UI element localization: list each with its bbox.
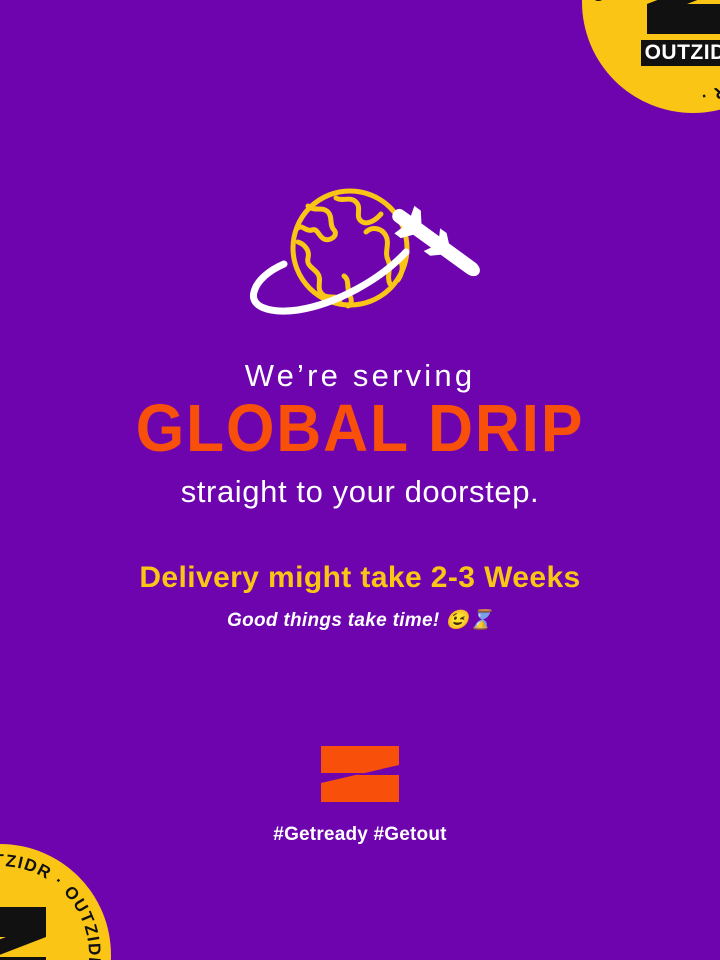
subline-text: straight to your doorstep. (0, 476, 720, 507)
outzidr-z-logomark-icon (320, 745, 400, 803)
footer-brand: #Getready #Getout (0, 745, 720, 844)
copy-block: We’re serving GLOBAL DRIP straight to yo… (0, 360, 720, 630)
hashtags-text: #Getready #Getout (0, 825, 720, 844)
outzidr-seal-badge-icon: OUTZIDR · OUTZIDR · OUTZIDR · OUTZIDR · … (578, 0, 720, 117)
tagline-text: Good things take time! 😉⌛ (0, 611, 720, 630)
svg-text:OUTZIDR: OUTZIDR (645, 41, 720, 64)
outzidr-seal-badge-icon: OUTZIDR · OUTZIDR · OUTZIDR · OUTZIDR · … (0, 840, 115, 960)
delivery-estimate-text: Delivery might take 2-3 Weeks (0, 563, 720, 593)
outzidr-seal-badge-bottom-left: OUTZIDR · OUTZIDR · OUTZIDR · OUTZIDR · … (0, 840, 115, 960)
globe-airplane-icon (240, 176, 480, 336)
orbit-swoosh-icon (253, 252, 406, 311)
hero-illustration (0, 176, 720, 336)
eyebrow-text: We’re serving (0, 360, 720, 391)
outzidr-seal-badge-top-right: OUTZIDR · OUTZIDR · OUTZIDR · OUTZIDR · … (578, 0, 720, 117)
promo-poster: OUTZIDR · OUTZIDR · OUTZIDR · OUTZIDR · … (0, 0, 720, 960)
headline-text: GLOBAL DRIP (25, 395, 695, 462)
